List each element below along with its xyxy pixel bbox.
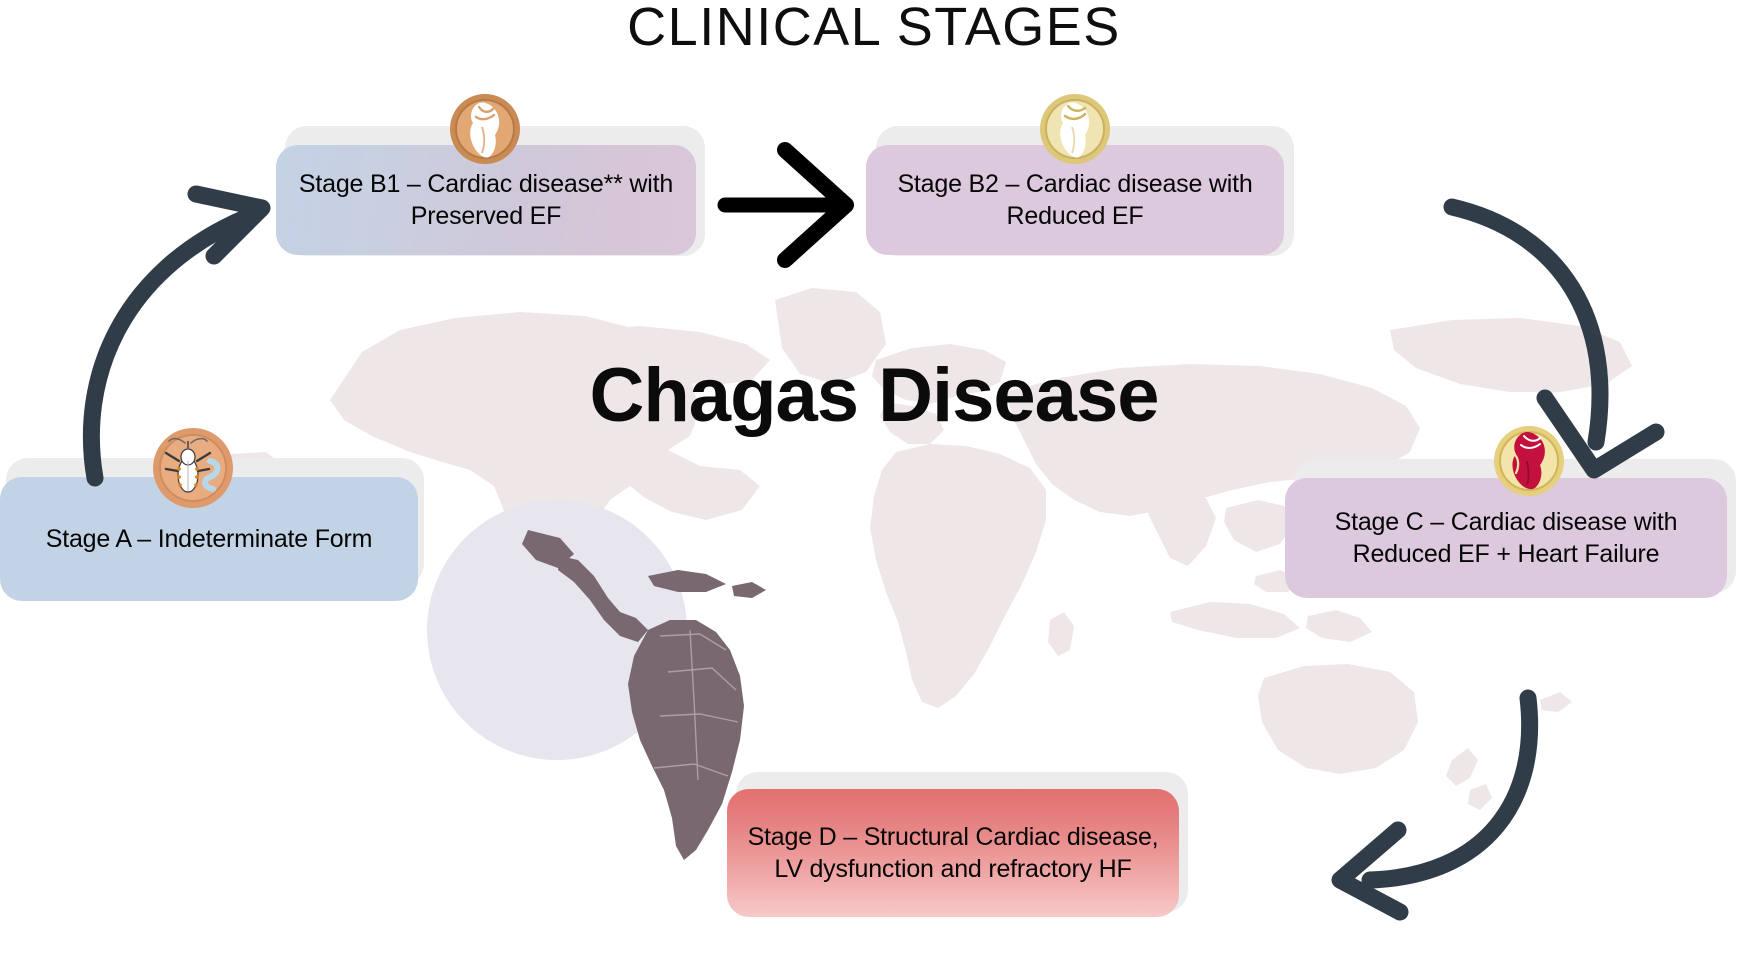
stage-b2-label: Stage B2 – Cardiac disease with Reduced …	[884, 168, 1266, 232]
stage-a-label: Stage A – Indeterminate Form	[46, 523, 373, 555]
stage-b1-label: Stage B1 – Cardiac disease** with Preser…	[294, 168, 678, 232]
center-title: Chagas Disease	[0, 352, 1748, 439]
diagram-canvas: CLINICAL STAGES Chagas Disease Stage A –…	[0, 0, 1748, 963]
page-title: CLINICAL STAGES	[0, 0, 1748, 58]
stage-c-label: Stage C – Cardiac disease with Reduced E…	[1303, 506, 1709, 570]
heart-red-gold-icon	[1493, 425, 1565, 497]
triatomine-bug-icon	[152, 427, 234, 509]
heart-outline-bronze-icon	[449, 93, 521, 165]
stage-d-box[interactable]: Stage D – Structural Cardiac disease, LV…	[727, 789, 1179, 917]
stage-d-label: Stage D – Structural Cardiac disease, LV…	[745, 821, 1161, 885]
heart-outline-gold-icon	[1039, 93, 1111, 165]
